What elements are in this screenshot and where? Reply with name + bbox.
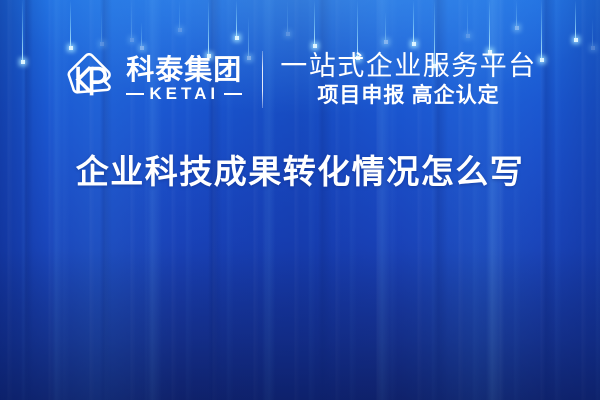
promo-banner: 科泰集团 KETAI 一站式企业服务平台 项目申报 高企认定 企业科技成果转化情… [0,0,600,400]
header-divider [262,51,263,108]
logo-rule-left [126,93,144,95]
slogan-main-line: 一站式企业服务平台 [280,52,537,80]
ketai-logo: 科泰集团 KETAI [63,53,242,105]
slogan-sub-line: 项目申报 高企认定 [280,84,537,106]
logo-company-name-latin: KETAI [149,85,219,102]
page-title: 企业科技成果转化情况怎么写 [0,152,600,192]
banner-header: 科泰集团 KETAI 一站式企业服务平台 项目申报 高企认定 [0,40,600,118]
logo-rule-right [224,93,242,95]
slogan-block: 一站式企业服务平台 项目申报 高企认定 [280,52,537,105]
ketai-logo-wordmark: 科泰集团 KETAI [126,56,242,102]
logo-company-name-cn: 科泰集团 [126,56,242,84]
background-bottom-shade [0,250,600,400]
ketai-kp-diamond-logo-icon [63,53,115,105]
logo-latin-row: KETAI [126,85,242,102]
